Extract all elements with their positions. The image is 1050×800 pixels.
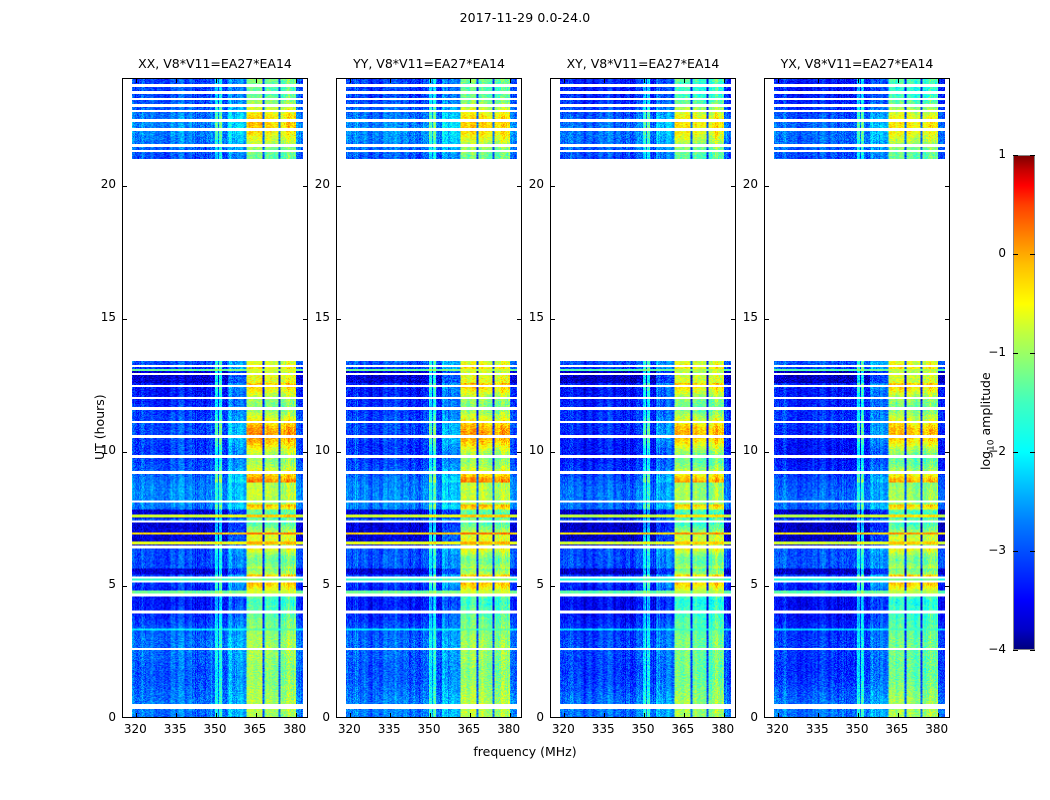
axes-yx[interactable] bbox=[764, 78, 950, 718]
x-tick bbox=[350, 713, 351, 717]
y-tick-label: 10 bbox=[78, 443, 116, 457]
colorbar-tick-right bbox=[1030, 551, 1035, 552]
x-tick-label: 350 bbox=[623, 722, 663, 736]
x-tick-top bbox=[724, 79, 725, 83]
x-tick bbox=[778, 713, 779, 717]
waterfall-canvas bbox=[551, 79, 735, 717]
y-tick bbox=[551, 319, 555, 320]
x-tick-top bbox=[938, 79, 939, 83]
x-tick-label: 335 bbox=[369, 722, 409, 736]
x-tick-top bbox=[818, 79, 819, 83]
colorbar-tick bbox=[1013, 650, 1018, 651]
colorbar-gradient bbox=[1013, 155, 1035, 650]
y-tick-label: 15 bbox=[506, 310, 544, 324]
panel-title-xy: XY, V8*V11=EA27*EA14 bbox=[520, 56, 766, 71]
colorbar-tick-label: −3 bbox=[976, 543, 1006, 557]
panel-title-xx: XX, V8*V11=EA27*EA14 bbox=[92, 56, 338, 71]
axes-yy[interactable] bbox=[336, 78, 522, 718]
waterfall-image-yy bbox=[337, 79, 521, 717]
x-tick-top bbox=[176, 79, 177, 83]
panel-yy[interactable]: YY, V8*V11=EA27*EA14 bbox=[336, 78, 522, 718]
x-tick-top bbox=[684, 79, 685, 83]
x-tick-top bbox=[564, 79, 565, 83]
colorbar-label-base: log bbox=[978, 451, 993, 470]
y-tick bbox=[337, 452, 341, 453]
y-tick bbox=[123, 186, 127, 187]
x-tick-top bbox=[510, 79, 511, 83]
colorbar-tick bbox=[1013, 254, 1018, 255]
y-tick-label: 10 bbox=[292, 443, 330, 457]
waterfall-canvas bbox=[123, 79, 307, 717]
waterfall-image-xx bbox=[123, 79, 307, 717]
x-tick bbox=[176, 713, 177, 717]
x-tick-top bbox=[136, 79, 137, 83]
y-tick bbox=[765, 452, 769, 453]
waterfall-canvas bbox=[765, 79, 949, 717]
colorbar-tick-right bbox=[1030, 353, 1035, 354]
y-tick-right bbox=[945, 452, 949, 453]
x-axis-label: frequency (MHz) bbox=[0, 744, 1050, 759]
x-tick bbox=[136, 713, 137, 717]
x-tick-top bbox=[644, 79, 645, 83]
x-tick-top bbox=[350, 79, 351, 83]
x-tick-label: 350 bbox=[195, 722, 235, 736]
colorbar-tick-right bbox=[1030, 155, 1035, 156]
y-tick bbox=[551, 452, 555, 453]
colorbar-tick-right bbox=[1030, 452, 1035, 453]
panel-title-yy: YY, V8*V11=EA27*EA14 bbox=[306, 56, 552, 71]
panel-title-yx: YX, V8*V11=EA27*EA14 bbox=[734, 56, 980, 71]
y-tick bbox=[337, 186, 341, 187]
x-tick bbox=[470, 713, 471, 717]
colorbar-tick-label: −1 bbox=[976, 345, 1006, 359]
x-tick-label: 365 bbox=[449, 722, 489, 736]
y-tick-right bbox=[945, 319, 949, 320]
y-tick-label: 5 bbox=[720, 577, 758, 591]
x-tick-label: 320 bbox=[329, 722, 369, 736]
y-tick bbox=[765, 586, 769, 587]
y-tick-label: 5 bbox=[78, 577, 116, 591]
y-tick bbox=[765, 319, 769, 320]
x-tick bbox=[604, 713, 605, 717]
x-tick-label: 320 bbox=[115, 722, 155, 736]
y-tick-label: 15 bbox=[78, 310, 116, 324]
x-tick-label: 380 bbox=[703, 722, 743, 736]
x-tick-label: 380 bbox=[275, 722, 315, 736]
colorbar-label-tail: amplitude bbox=[978, 372, 993, 439]
x-tick-top bbox=[858, 79, 859, 83]
y-tick-label: 20 bbox=[720, 177, 758, 191]
x-tick-label: 365 bbox=[235, 722, 275, 736]
colorbar-tick-right bbox=[1030, 650, 1035, 651]
y-tick-label: 15 bbox=[292, 310, 330, 324]
colorbar-tick-label: 1 bbox=[976, 147, 1006, 161]
y-tick bbox=[765, 186, 769, 187]
colorbar-tick-label: −4 bbox=[976, 642, 1006, 656]
x-tick-label: 380 bbox=[489, 722, 529, 736]
y-tick bbox=[337, 319, 341, 320]
panel-xy[interactable]: XY, V8*V11=EA27*EA14 bbox=[550, 78, 736, 718]
axes-xy[interactable] bbox=[550, 78, 736, 718]
y-tick bbox=[551, 586, 555, 587]
colorbar-tick bbox=[1013, 155, 1018, 156]
x-tick-label: 350 bbox=[409, 722, 449, 736]
x-tick-label: 335 bbox=[583, 722, 623, 736]
x-tick-label: 365 bbox=[877, 722, 917, 736]
x-tick bbox=[898, 713, 899, 717]
x-tick-top bbox=[216, 79, 217, 83]
y-tick bbox=[551, 186, 555, 187]
y-tick-label: 20 bbox=[506, 177, 544, 191]
x-tick bbox=[390, 713, 391, 717]
figure-suptitle: 2017-11-29 0.0-24.0 bbox=[0, 10, 1050, 25]
figure-canvas: 2017-11-29 0.0-24.0 XX, V8*V11=EA27*EA14… bbox=[0, 0, 1050, 800]
x-tick bbox=[818, 713, 819, 717]
colorbar-label: log10 amplitude bbox=[978, 372, 997, 470]
y-tick-label: 0 bbox=[720, 710, 758, 724]
colorbar-tick-label: 0 bbox=[976, 246, 1006, 260]
y-tick bbox=[123, 319, 127, 320]
panel-yx[interactable]: YX, V8*V11=EA27*EA14 bbox=[764, 78, 950, 718]
x-tick bbox=[858, 713, 859, 717]
colorbar-tick bbox=[1013, 551, 1018, 552]
y-tick-label: 5 bbox=[292, 577, 330, 591]
x-tick-top bbox=[898, 79, 899, 83]
x-tick-label: 335 bbox=[155, 722, 195, 736]
x-tick-label: 365 bbox=[663, 722, 703, 736]
colorbar[interactable]: 10−1−2−3−4 bbox=[1013, 155, 1035, 650]
y-tick bbox=[123, 452, 127, 453]
x-tick-top bbox=[778, 79, 779, 83]
x-tick bbox=[684, 713, 685, 717]
y-tick bbox=[337, 586, 341, 587]
y-tick bbox=[123, 586, 127, 587]
y-tick-label: 20 bbox=[78, 177, 116, 191]
x-tick-label: 380 bbox=[917, 722, 957, 736]
x-tick-top bbox=[390, 79, 391, 83]
colorbar-tick bbox=[1013, 353, 1018, 354]
colorbar-label-sub: 10 bbox=[987, 439, 997, 450]
y-tick-right bbox=[945, 186, 949, 187]
x-tick-top bbox=[296, 79, 297, 83]
y-tick-label: 10 bbox=[506, 443, 544, 457]
x-tick-label: 350 bbox=[837, 722, 877, 736]
y-tick-label: 10 bbox=[720, 443, 758, 457]
x-tick bbox=[644, 713, 645, 717]
axes-xx[interactable] bbox=[122, 78, 308, 718]
y-tick-label: 0 bbox=[292, 710, 330, 724]
x-tick-top bbox=[256, 79, 257, 83]
waterfall-image-xy bbox=[551, 79, 735, 717]
x-tick bbox=[216, 713, 217, 717]
y-tick-label: 20 bbox=[292, 177, 330, 191]
panel-xx[interactable]: XX, V8*V11=EA27*EA14 bbox=[122, 78, 308, 718]
x-tick-label: 320 bbox=[543, 722, 583, 736]
y-tick-label: 0 bbox=[78, 710, 116, 724]
x-tick-label: 320 bbox=[757, 722, 797, 736]
x-tick-top bbox=[430, 79, 431, 83]
x-tick bbox=[564, 713, 565, 717]
colorbar-tick bbox=[1013, 452, 1018, 453]
y-tick-label: 15 bbox=[720, 310, 758, 324]
x-tick bbox=[938, 713, 939, 717]
x-tick-label: 335 bbox=[797, 722, 837, 736]
y-tick-right bbox=[945, 586, 949, 587]
x-tick bbox=[430, 713, 431, 717]
colorbar-tick-right bbox=[1030, 254, 1035, 255]
x-tick-top bbox=[470, 79, 471, 83]
x-tick-top bbox=[604, 79, 605, 83]
y-tick-label: 0 bbox=[506, 710, 544, 724]
x-tick bbox=[256, 713, 257, 717]
y-tick-label: 5 bbox=[506, 577, 544, 591]
waterfall-canvas bbox=[337, 79, 521, 717]
waterfall-image-yx bbox=[765, 79, 949, 717]
